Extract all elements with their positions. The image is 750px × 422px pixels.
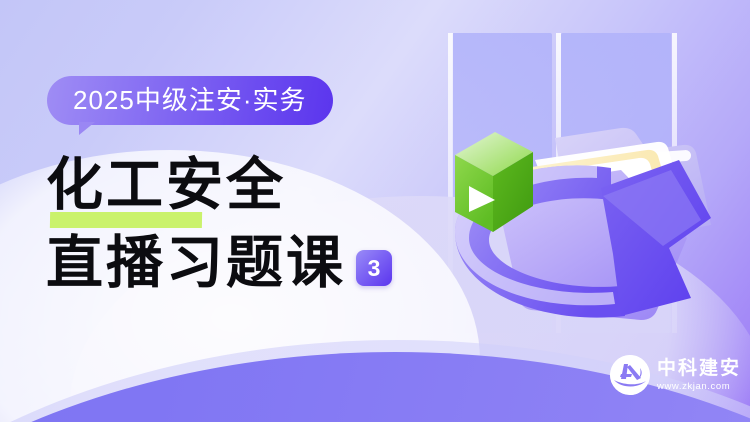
course-tag-label: 2025中级注安·实务	[73, 85, 307, 115]
brand-logo[interactable]: 中科建安 www.zkjan.com	[610, 355, 741, 395]
folder-documents-arrow-illustration	[425, 10, 750, 350]
brand-logo-text: 中科建安 www.zkjan.com	[657, 359, 741, 392]
zkjan-logo-mark-icon	[610, 355, 650, 395]
episode-number-badge: 3	[356, 250, 392, 286]
title-line-2: 直播习题课	[46, 230, 346, 296]
course-tag: 2025中级注安·实务	[47, 76, 333, 125]
title-line-1: 化工安全	[46, 152, 286, 218]
brand-url: www.zkjan.com	[657, 382, 741, 392]
course-tag-tail	[79, 122, 95, 135]
brand-name: 中科建安	[657, 359, 741, 378]
title-row-1: 化工安全	[46, 152, 392, 218]
page-title: 化工安全 直播习题课 3	[46, 152, 392, 296]
course-banner: 2025中级注安·实务 化工安全 直播习题课 3 中科建安	[0, 0, 750, 422]
title-row-2: 直播习题课 3	[46, 230, 392, 296]
course-tag-pill: 2025中级注安·实务	[47, 76, 333, 125]
